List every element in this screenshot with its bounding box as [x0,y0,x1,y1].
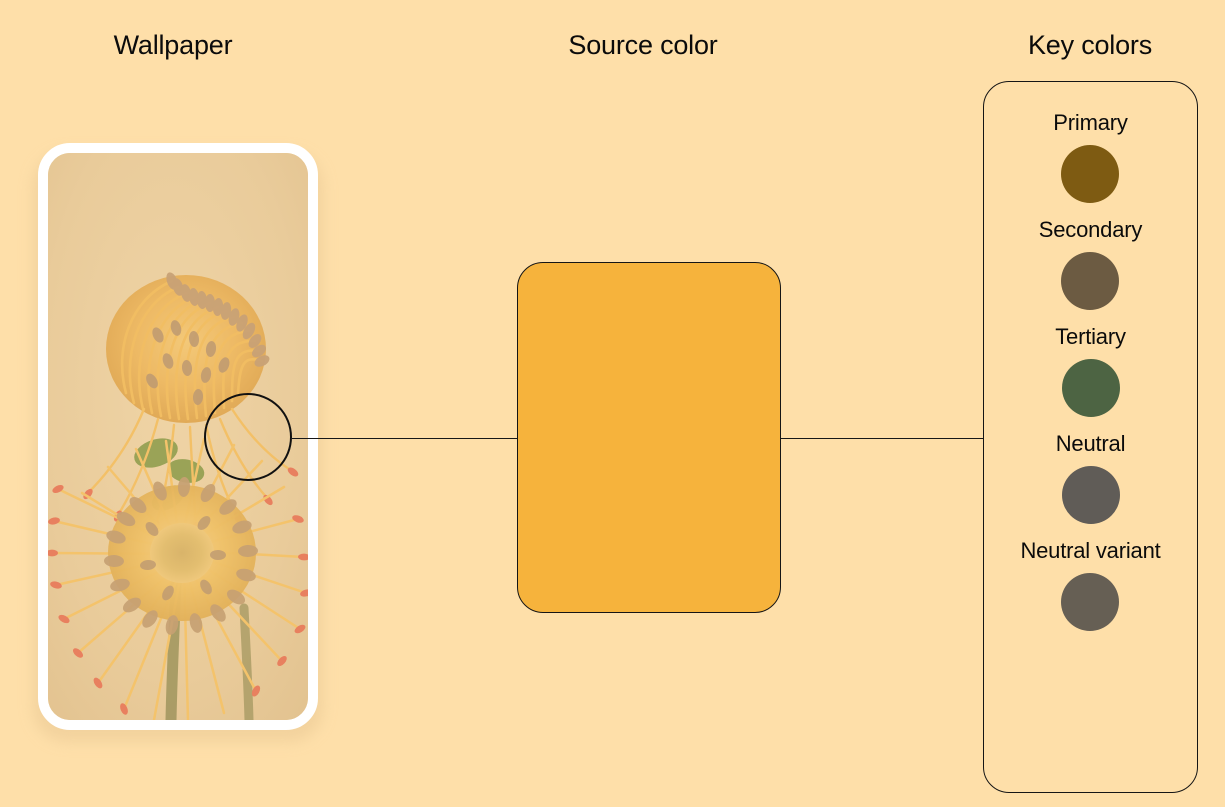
key-color-label-neutral-variant: Neutral variant [1020,538,1160,564]
source-color-column-title: Source color [568,30,717,61]
connector-line-source-to-key-colors [780,438,984,439]
key-color-row-neutral-variant: Neutral variant [1020,538,1160,631]
key-color-swatch-secondary [1061,252,1119,310]
wallpaper-column-title: Wallpaper [114,30,233,61]
key-color-swatch-tertiary [1062,359,1120,417]
key-color-row-neutral: Neutral [1056,431,1126,524]
key-color-label-tertiary: Tertiary [1055,324,1126,350]
key-color-row-secondary: Secondary [1039,217,1142,310]
source-color-swatch [517,262,781,613]
key-color-row-primary: Primary [1053,110,1127,203]
key-color-swatch-primary [1061,145,1119,203]
diagram-canvas: Wallpaper Source color Key colors [0,0,1225,807]
connector-line-wallpaper-to-source [292,438,518,439]
key-color-label-primary: Primary [1053,110,1127,136]
sample-region-circle-icon [204,393,292,481]
key-colors-panel: Primary Secondary Tertiary Neutral Neutr… [983,81,1198,793]
key-color-swatch-neutral-variant [1061,573,1119,631]
key-color-label-neutral: Neutral [1056,431,1126,457]
key-color-row-tertiary: Tertiary [1055,324,1126,417]
key-color-label-secondary: Secondary [1039,217,1142,243]
key-color-swatch-neutral [1062,466,1120,524]
key-colors-column-title: Key colors [1028,30,1152,61]
